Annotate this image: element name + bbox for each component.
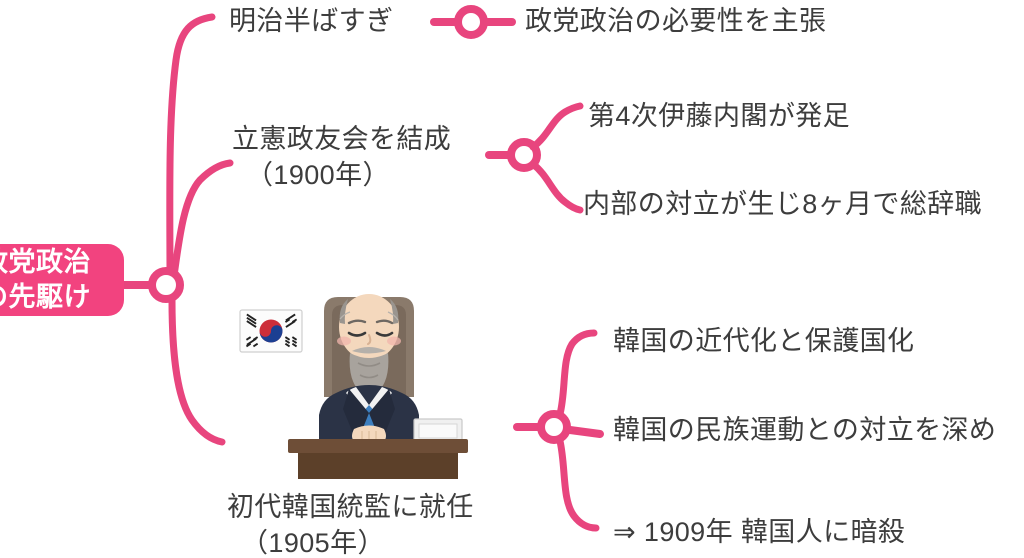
connector-lines bbox=[0, 0, 1024, 558]
root-node-line2: の先駆け bbox=[0, 280, 91, 315]
branch-label-meiji[interactable]: 明治半ばすぎ bbox=[229, 3, 393, 39]
branch-label-kankoku-line2: （1905年） bbox=[227, 525, 474, 558]
node2-circle bbox=[511, 142, 537, 168]
node3-arm-mid bbox=[570, 430, 600, 434]
child-label-ito-4th[interactable]: 第4次伊藤内閣が発足 bbox=[588, 98, 850, 134]
root-node[interactable]: 政党政治 の先駆け bbox=[0, 244, 124, 316]
branch-label-rikken-line2: （1900年） bbox=[232, 157, 451, 193]
korean-flag-icon bbox=[240, 310, 302, 352]
branch-label-rikken[interactable]: 立憲政友会を結成 （1900年） bbox=[232, 121, 451, 193]
desk-shape bbox=[288, 439, 468, 479]
node3-circle bbox=[541, 414, 567, 440]
node3-arm-down bbox=[560, 441, 596, 528]
branch-label-kankoku-toukan[interactable]: 初代韓国統監に就任 （1905年） bbox=[227, 489, 474, 558]
child-label-ansatsu[interactable]: ⇒ 1909年 韓国人に暗殺 bbox=[613, 514, 905, 550]
root-hub-node bbox=[152, 271, 180, 299]
root-node-line1: 政党政治 bbox=[0, 245, 91, 280]
node1-circle bbox=[458, 9, 484, 35]
child-label-seitou-shucho[interactable]: 政党政治の必要性を主張 bbox=[525, 3, 826, 39]
spine-upper bbox=[170, 17, 212, 282]
node3-arm-up bbox=[560, 333, 594, 414]
child-label-minzoku-undo[interactable]: 韓国の民族運動との対立を深め bbox=[613, 412, 996, 448]
child-label-kindaika[interactable]: 韓国の近代化と保護国化 bbox=[613, 323, 914, 359]
child-label-naibu-tairitsu[interactable]: 内部の対立が生じ8ヶ月で総辞職 bbox=[583, 186, 982, 222]
node2-arm-down bbox=[533, 164, 580, 210]
branch-label-rikken-line1: 立憲政友会を結成 bbox=[232, 124, 451, 154]
spine-branch-rikken bbox=[172, 163, 230, 290]
spine-lower bbox=[172, 300, 222, 442]
branch-label-kankoku-line1: 初代韓国統監に就任 bbox=[227, 492, 474, 522]
mindmap-canvas: 政党政治 の先駆け 明治半ばすぎ 政党政治の必要性を主張 立憲政友会を結成 （1… bbox=[0, 0, 1024, 558]
node2-arm-up bbox=[533, 106, 580, 147]
illustration-man-at-desk bbox=[236, 283, 468, 479]
